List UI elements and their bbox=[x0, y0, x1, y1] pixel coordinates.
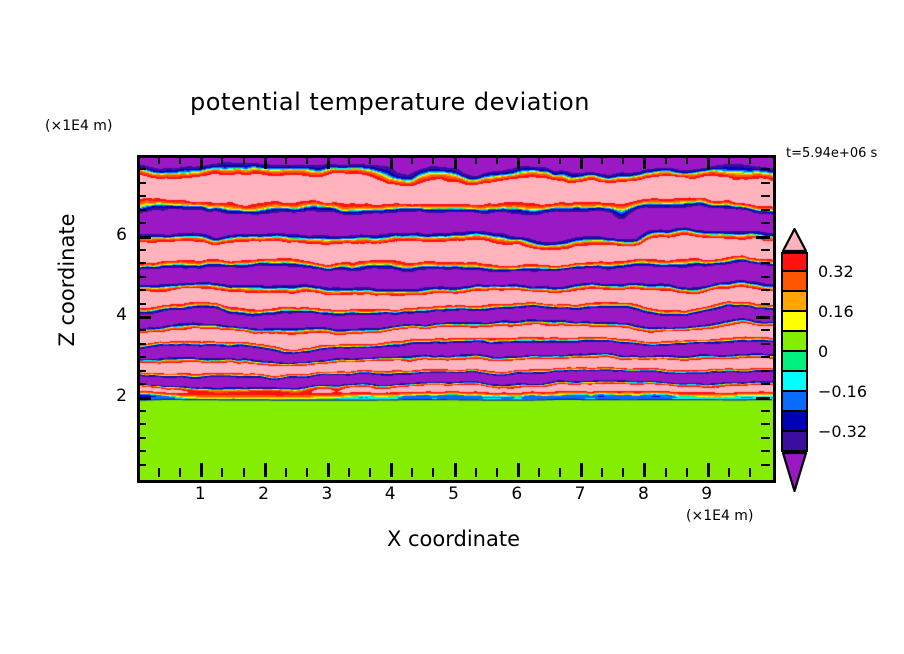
tick-y-right bbox=[761, 289, 770, 291]
x-tick-label: 3 bbox=[312, 484, 342, 504]
tick-x-bottom bbox=[200, 463, 203, 477]
tick-x-bottom bbox=[496, 468, 498, 477]
tick-x-bottom bbox=[306, 468, 308, 477]
tick-y-right bbox=[761, 437, 770, 439]
colorbar-band bbox=[781, 432, 808, 452]
tick-x-top bbox=[686, 155, 688, 164]
tick-y-right bbox=[761, 209, 770, 211]
tick-x-top bbox=[601, 155, 603, 164]
tick-y-left bbox=[137, 303, 146, 305]
colorbar-band bbox=[781, 412, 808, 432]
tick-y-left bbox=[137, 168, 146, 170]
tick-y-right bbox=[756, 236, 770, 239]
tick-y-left bbox=[137, 397, 151, 400]
tick-x-top bbox=[200, 155, 203, 169]
tick-y-left bbox=[137, 182, 146, 184]
tick-y-left bbox=[137, 437, 146, 439]
colorbar-band bbox=[781, 272, 808, 292]
tick-x-bottom bbox=[707, 463, 710, 477]
colorbar-band bbox=[781, 352, 808, 372]
tick-x-top bbox=[179, 155, 181, 164]
y-tick-label: 6 bbox=[103, 225, 127, 245]
tick-x-bottom bbox=[622, 468, 624, 477]
tick-x-bottom bbox=[243, 468, 245, 477]
tick-y-right bbox=[761, 168, 770, 170]
tick-y-left bbox=[137, 343, 146, 345]
colorbar-tick-label: 0 bbox=[818, 342, 828, 361]
tick-y-left bbox=[137, 356, 146, 358]
tick-x-bottom bbox=[686, 468, 688, 477]
axis-ticks bbox=[137, 155, 770, 477]
tick-y-right bbox=[761, 343, 770, 345]
colorbar-band bbox=[781, 392, 808, 412]
tick-x-bottom bbox=[264, 463, 267, 477]
page-title: potential temperature deviation bbox=[0, 88, 780, 116]
x-tick-label: 6 bbox=[502, 484, 532, 504]
tick-y-right bbox=[761, 276, 770, 278]
x-tick-label: 1 bbox=[185, 484, 215, 504]
tick-x-bottom bbox=[179, 468, 181, 477]
tick-x-bottom bbox=[221, 468, 223, 477]
tick-x-top bbox=[517, 155, 520, 169]
tick-x-top bbox=[728, 155, 730, 164]
tick-y-left bbox=[137, 262, 146, 264]
tick-y-right bbox=[761, 356, 770, 358]
tick-y-right bbox=[761, 410, 770, 412]
tick-y-left bbox=[137, 195, 146, 197]
colorbar-band bbox=[781, 312, 808, 332]
tick-y-right bbox=[761, 423, 770, 425]
tick-x-top bbox=[327, 155, 330, 169]
tick-y-right bbox=[761, 303, 770, 305]
tick-y-right bbox=[761, 329, 770, 331]
tick-x-bottom bbox=[475, 468, 477, 477]
y-tick-label: 4 bbox=[103, 305, 127, 325]
tick-x-bottom bbox=[538, 468, 540, 477]
tick-y-right bbox=[761, 370, 770, 372]
figure-root: potential temperature deviation (×1E4 m)… bbox=[0, 0, 904, 654]
tick-y-right bbox=[761, 249, 770, 251]
horizontal-axis-unit-label: (×1E4 m) bbox=[686, 508, 753, 524]
tick-x-top bbox=[348, 155, 350, 164]
tick-y-left bbox=[137, 249, 146, 251]
tick-x-top bbox=[285, 155, 287, 164]
y-tick-label: 2 bbox=[103, 386, 127, 406]
colorbar-band bbox=[781, 252, 808, 272]
tick-y-left bbox=[137, 329, 146, 331]
tick-y-left bbox=[137, 370, 146, 372]
tick-y-left bbox=[137, 276, 146, 278]
colorbar-tick-label: −0.32 bbox=[818, 422, 867, 441]
tick-x-top bbox=[411, 155, 413, 164]
tick-y-right bbox=[761, 262, 770, 264]
tick-x-bottom bbox=[285, 468, 287, 477]
tick-x-bottom bbox=[749, 468, 751, 477]
tick-x-bottom bbox=[454, 463, 457, 477]
tick-x-top bbox=[665, 155, 667, 164]
tick-y-left bbox=[137, 464, 146, 466]
colorbar-band bbox=[781, 292, 808, 312]
colorbar-under-cap bbox=[781, 452, 808, 492]
tick-x-bottom bbox=[432, 468, 434, 477]
tick-x-top bbox=[264, 155, 267, 169]
tick-y-left bbox=[137, 236, 151, 239]
vertical-axis-unit-label: (×1E4 m) bbox=[45, 118, 112, 134]
tick-x-top bbox=[369, 155, 371, 164]
tick-y-left bbox=[137, 209, 146, 211]
tick-x-top bbox=[622, 155, 624, 164]
tick-y-left bbox=[137, 423, 146, 425]
tick-x-top bbox=[707, 155, 710, 169]
tick-x-top bbox=[306, 155, 308, 164]
tick-x-top bbox=[538, 155, 540, 164]
tick-x-bottom bbox=[158, 468, 160, 477]
tick-x-bottom bbox=[643, 463, 646, 477]
tick-x-top bbox=[749, 155, 751, 164]
tick-y-left bbox=[137, 410, 146, 412]
tick-y-right bbox=[761, 450, 770, 452]
tick-x-bottom bbox=[665, 468, 667, 477]
tick-y-left bbox=[137, 289, 146, 291]
x-tick-label: 2 bbox=[249, 484, 279, 504]
x-tick-label: 5 bbox=[439, 484, 469, 504]
tick-x-top bbox=[243, 155, 245, 164]
tick-x-top bbox=[643, 155, 646, 169]
tick-x-top bbox=[454, 155, 457, 169]
colorbar-over-cap bbox=[781, 228, 808, 252]
colorbar-tick-label: −0.16 bbox=[818, 382, 867, 401]
x-tick-label: 9 bbox=[692, 484, 722, 504]
tick-x-bottom bbox=[348, 468, 350, 477]
tick-x-bottom bbox=[369, 468, 371, 477]
tick-y-left bbox=[137, 450, 146, 452]
tick-x-bottom bbox=[580, 463, 583, 477]
tick-x-bottom bbox=[390, 463, 393, 477]
x-tick-label: 7 bbox=[565, 484, 595, 504]
tick-y-right bbox=[761, 222, 770, 224]
tick-y-right bbox=[761, 195, 770, 197]
tick-x-top bbox=[390, 155, 393, 169]
tick-x-top bbox=[496, 155, 498, 164]
x-tick-label: 8 bbox=[628, 484, 658, 504]
tick-y-right bbox=[756, 397, 770, 400]
tick-x-bottom bbox=[601, 468, 603, 477]
colorbar-band bbox=[781, 332, 808, 352]
colorbar-tick-label: 0.32 bbox=[818, 262, 854, 281]
x-tick-label: 4 bbox=[375, 484, 405, 504]
colorbar-tick-label: 0.16 bbox=[818, 302, 854, 321]
colorbar-band bbox=[781, 372, 808, 392]
y-axis-title: Z coordinate bbox=[55, 180, 79, 380]
tick-x-top bbox=[221, 155, 223, 164]
x-axis-title: X coordinate bbox=[137, 527, 770, 551]
tick-y-right bbox=[761, 464, 770, 466]
tick-y-left bbox=[137, 222, 146, 224]
tick-x-bottom bbox=[517, 463, 520, 477]
colorbar bbox=[781, 228, 808, 490]
tick-y-right bbox=[756, 316, 770, 319]
tick-x-top bbox=[559, 155, 561, 164]
time-stamp-label: t=5.94e+06 s bbox=[786, 146, 877, 161]
tick-x-top bbox=[475, 155, 477, 164]
tick-y-right bbox=[761, 383, 770, 385]
tick-x-top bbox=[432, 155, 434, 164]
tick-x-top bbox=[580, 155, 583, 169]
tick-y-right bbox=[761, 182, 770, 184]
tick-y-left bbox=[137, 316, 151, 319]
tick-y-left bbox=[137, 383, 146, 385]
tick-x-bottom bbox=[327, 463, 330, 477]
tick-x-bottom bbox=[559, 468, 561, 477]
tick-x-bottom bbox=[411, 468, 413, 477]
tick-x-top bbox=[158, 155, 160, 164]
tick-x-bottom bbox=[728, 468, 730, 477]
